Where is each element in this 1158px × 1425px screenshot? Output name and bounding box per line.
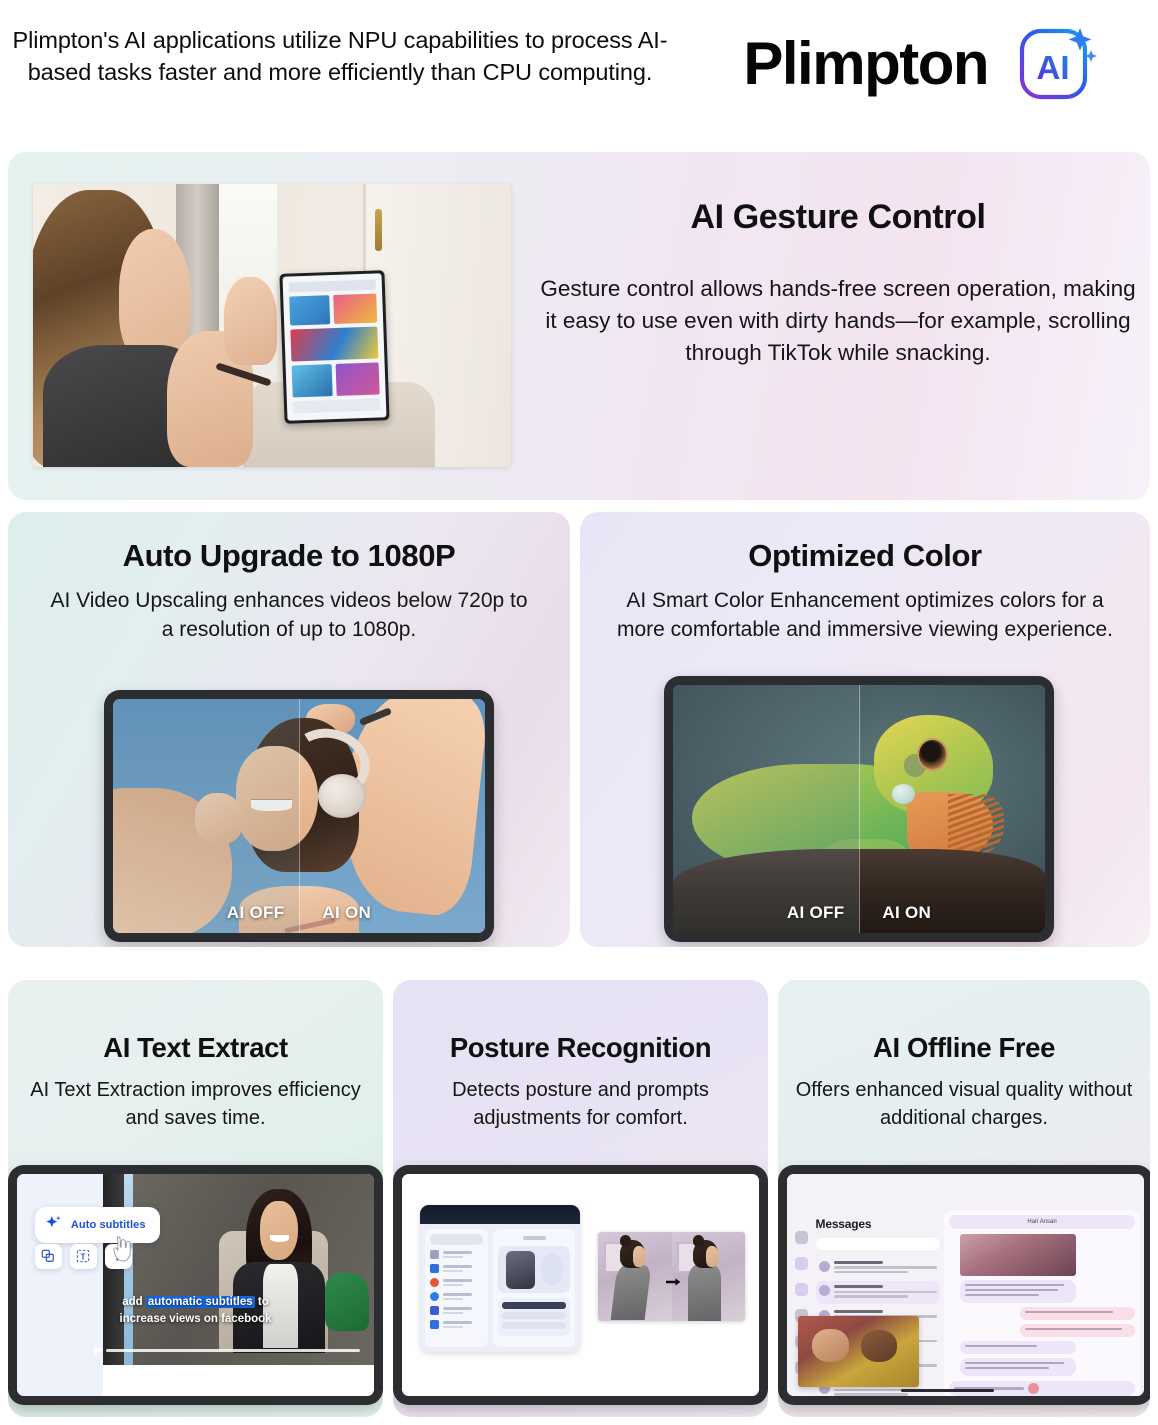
auto-subtitles-button[interactable]: Auto subtitles bbox=[35, 1207, 160, 1243]
offline-description: Offers enhanced visual quality without a… bbox=[778, 1064, 1150, 1132]
text-extract-tablet: Auto subtitles bbox=[8, 1165, 383, 1405]
infographic-page: Plimpton's AI applications utilize NPU c… bbox=[0, 0, 1158, 1425]
posture-tablet bbox=[393, 1165, 768, 1405]
caption-before: add bbox=[122, 1296, 146, 1308]
card-ai-text-extract[interactable]: AI Text Extract AI Text Extraction impro… bbox=[8, 980, 383, 1417]
play-icon[interactable] bbox=[94, 1345, 102, 1355]
messages-title: Messages bbox=[816, 1217, 941, 1231]
thread-image-attachment bbox=[960, 1234, 1075, 1276]
chat-icon[interactable] bbox=[795, 1283, 808, 1296]
message-bubble bbox=[960, 1358, 1075, 1376]
list-item[interactable] bbox=[816, 1257, 941, 1280]
card-optimized-color[interactable]: Optimized Color AI Smart Color Enhanceme… bbox=[580, 512, 1150, 947]
message-bubble bbox=[1020, 1307, 1135, 1320]
list-item[interactable] bbox=[816, 1281, 941, 1304]
send-icon[interactable] bbox=[1028, 1383, 1039, 1394]
gesture-title: AI Gesture Control bbox=[538, 198, 1138, 237]
translate-icon[interactable] bbox=[35, 1244, 62, 1269]
offline-tablet: Messages Hari Ansari bbox=[778, 1165, 1150, 1405]
ai-split-line bbox=[299, 699, 300, 933]
widgets-panel bbox=[420, 1205, 581, 1352]
auto-subtitles-label: Auto subtitles bbox=[71, 1219, 146, 1231]
svg-text:T: T bbox=[81, 1253, 86, 1262]
text-extract-title: AI Text Extract bbox=[8, 980, 383, 1064]
gesture-text-column: AI Gesture Control Gesture control allow… bbox=[538, 198, 1138, 369]
header-tagline: Plimpton's AI applications utilize NPU c… bbox=[10, 18, 670, 88]
brand-name: Plimpton bbox=[743, 34, 988, 94]
photo-overlay bbox=[798, 1316, 919, 1387]
ai-badge-icon: AI bbox=[1014, 22, 1098, 106]
brand-block: Plimpton AI bbox=[743, 18, 1098, 106]
upgrade-title: Auto Upgrade to 1080P bbox=[8, 512, 570, 574]
menu-icon[interactable] bbox=[795, 1231, 808, 1244]
message-thread[interactable]: Hari Ansari bbox=[944, 1210, 1140, 1396]
gesture-description: Gesture control allows hands-free screen… bbox=[538, 273, 1138, 369]
text-extract-description: AI Text Extraction improves efficiency a… bbox=[8, 1064, 383, 1132]
card-posture-recognition[interactable]: Posture Recognition Detects posture and … bbox=[393, 980, 768, 1417]
video-caption: add automatic subtitles to increase view… bbox=[17, 1294, 374, 1327]
sparkle-icon bbox=[45, 1214, 62, 1236]
thread-contact-name: Hari Ansari bbox=[1027, 1219, 1056, 1225]
arrow-right-icon bbox=[666, 1273, 681, 1281]
thread-header: Hari Ansari bbox=[949, 1215, 1135, 1229]
posture-description: Detects posture and prompts adjustments … bbox=[393, 1064, 768, 1132]
hand-cursor-icon bbox=[110, 1234, 136, 1264]
gesture-photo bbox=[33, 184, 511, 467]
ai-split-line bbox=[859, 685, 860, 933]
page-header: Plimpton's AI applications utilize NPU c… bbox=[0, 0, 1158, 140]
posture-comparison bbox=[598, 1232, 744, 1321]
posture-before bbox=[598, 1232, 671, 1321]
caption-highlight: automatic subtitles bbox=[146, 1296, 255, 1308]
messages-search-input[interactable] bbox=[816, 1238, 941, 1250]
upgrade-tablet: AI OFF AI ON bbox=[104, 690, 494, 942]
video-scrubber[interactable] bbox=[106, 1349, 359, 1352]
message-bubble bbox=[1020, 1324, 1135, 1337]
message-bubble bbox=[960, 1280, 1075, 1303]
posture-after bbox=[672, 1232, 745, 1321]
message-bubble bbox=[960, 1341, 1075, 1354]
text-frame-icon[interactable]: T bbox=[70, 1244, 97, 1269]
color-title: Optimized Color bbox=[580, 512, 1150, 574]
card-ai-offline-free[interactable]: AI Offline Free Offers enhanced visual q… bbox=[778, 980, 1150, 1417]
home-indicator bbox=[901, 1389, 994, 1392]
upgrade-description: AI Video Upscaling enhances videos below… bbox=[8, 574, 570, 645]
card-auto-upgrade-1080p[interactable]: Auto Upgrade to 1080P AI Video Upscaling… bbox=[8, 512, 570, 947]
card-ai-gesture-control[interactable]: AI Gesture Control Gesture control allow… bbox=[8, 152, 1150, 500]
offline-title: AI Offline Free bbox=[778, 980, 1150, 1064]
color-tablet: AI OFF AI ON bbox=[664, 676, 1054, 942]
color-description: AI Smart Color Enhancement optimizes col… bbox=[580, 574, 1150, 645]
compose-icon[interactable] bbox=[795, 1257, 808, 1270]
svg-text:AI: AI bbox=[1037, 49, 1070, 86]
caption-line2: increase views on facebook bbox=[119, 1313, 271, 1325]
caption-after: to bbox=[255, 1296, 269, 1308]
posture-title: Posture Recognition bbox=[393, 980, 768, 1064]
